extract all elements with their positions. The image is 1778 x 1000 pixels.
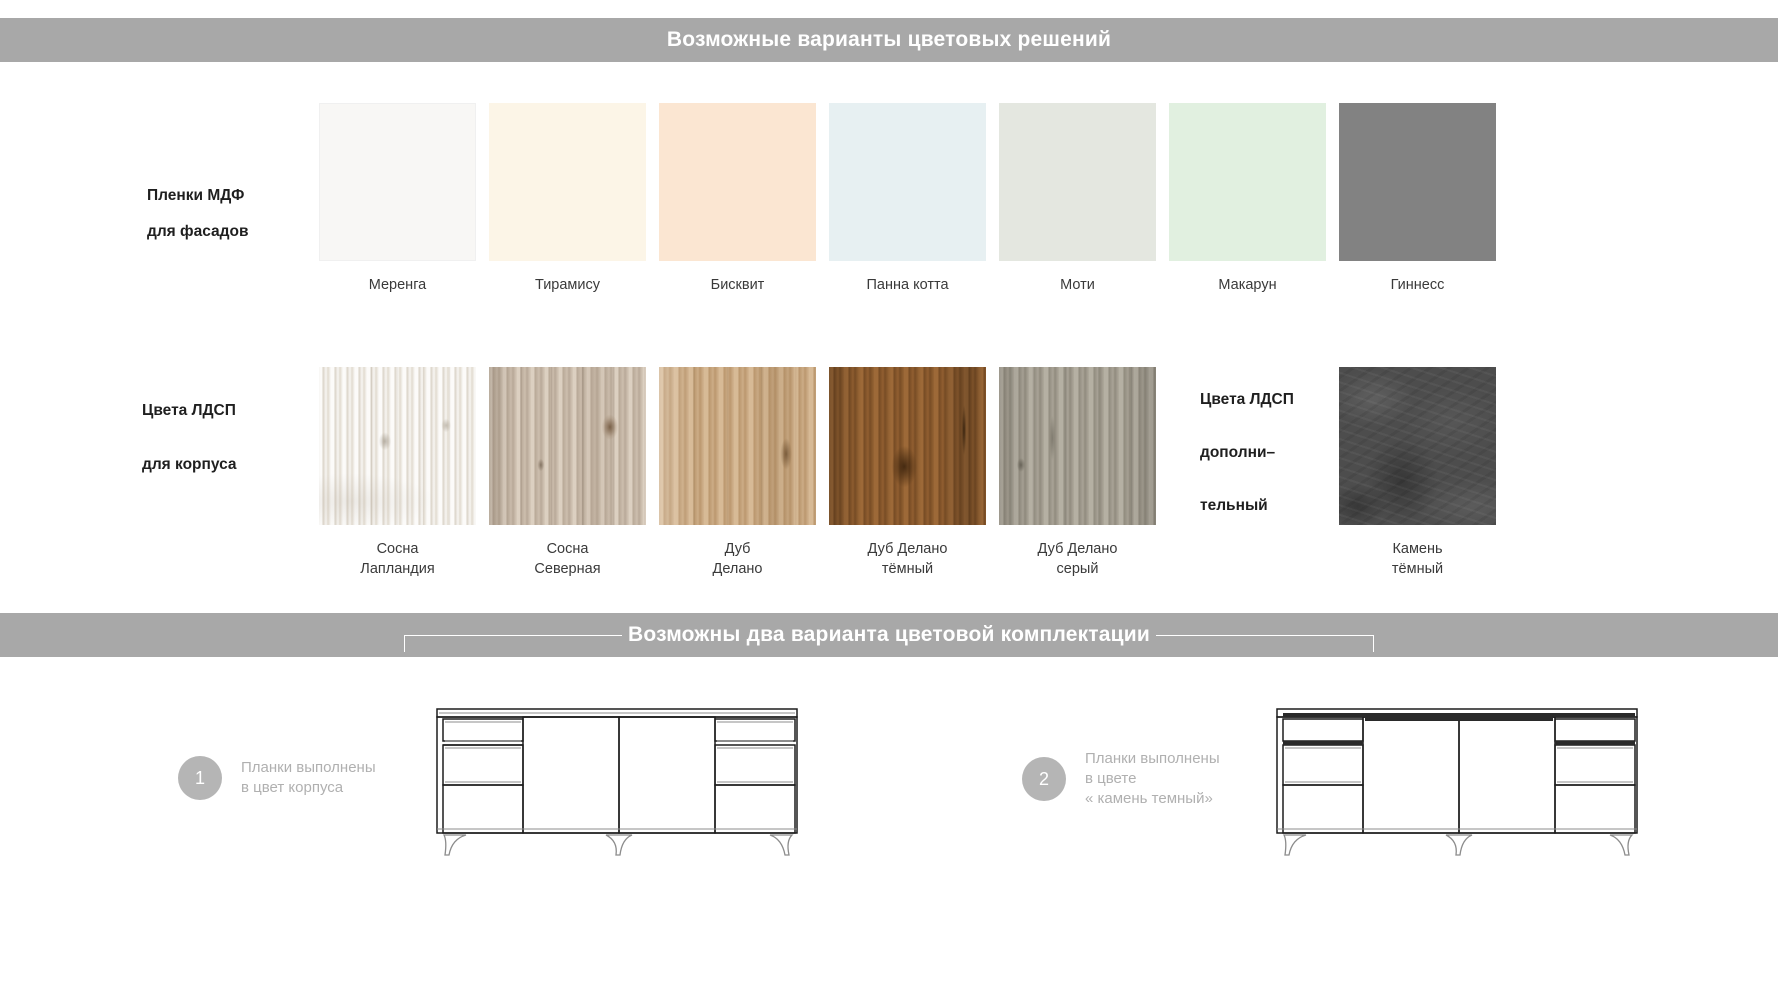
swatch-caption: Гиннесс [1339,275,1496,295]
swatch-chip[interactable] [489,103,646,261]
swatch-chip[interactable] [829,103,986,261]
ldsp-label-line-2: для корпуса [142,447,237,483]
swatch-panna-kotta[interactable]: Панна котта [829,103,986,295]
swatch-caption-line-2: тёмный [1339,559,1496,579]
mdf-label-line-2: для фасадов [147,214,248,250]
swatch-caption: Бисквит [659,275,816,295]
mdf-section-label: Пленки МДФ для фасадов [147,178,248,250]
swatch-moti[interactable]: Моти [999,103,1156,295]
swatch-chip[interactable] [659,367,816,525]
variant-1[interactable]: 1 Планки выполнены в цвет корпуса [178,756,376,800]
swatch-caption-line-2: тёмный [829,559,986,579]
swatch-chip[interactable] [659,103,816,261]
banner-two-variants: Возможны два варианта цветовой комплекта… [0,613,1778,657]
variant-number-badge: 2 [1022,757,1066,801]
swatch-caption-line-1: Дуб Делано [999,539,1156,559]
swatch-tiramisu[interactable]: Тирамису [489,103,646,295]
swatch-caption-line-1: Камень [1339,539,1496,559]
swatch-caption-line-1: Дуб [659,539,816,559]
banner-top-title: Возможные варианты цветовых решений [653,28,1125,52]
swatch-chip[interactable] [1169,103,1326,261]
swatch-caption: Тирамису [489,275,646,295]
swatch-chip[interactable] [489,367,646,525]
ldsp-extra-line-3: тельный [1200,488,1294,524]
banner-middle-title: Возможны два варианта цветовой комплекта… [614,623,1164,647]
variant-description: Планки выполнены в цвете « камень темный… [1085,749,1220,809]
ldsp-extra-line-1: Цвета ЛДСП [1200,382,1294,418]
swatch-caption-line-2: Северная [489,559,646,579]
swatch-makarun[interactable]: Макарун [1169,103,1326,295]
sideboard-drawing-variant-1 [432,703,804,868]
ldsp-extra-label: Цвета ЛДСП дополни– тельный [1200,382,1294,524]
variant-number-badge: 1 [178,756,222,800]
swatch-caption-line-1: Сосна [319,539,476,559]
swatch-ginness[interactable]: Гиннесс [1339,103,1496,295]
swatch-dub-delano-seryy[interactable]: Дуб Делано серый [999,367,1156,579]
banner-bracket-left [404,635,622,652]
swatch-chip[interactable] [1339,103,1496,261]
swatch-sosna-laplandia[interactable]: Сосна Лапландия [319,367,476,579]
swatch-caption-line-2: Делано [659,559,816,579]
mdf-label-line-1: Пленки МДФ [147,178,248,214]
swatch-caption: Меренга [319,275,476,295]
banner-color-options: Возможные варианты цветовых решений [0,18,1778,62]
swatch-caption: Панна котта [829,275,986,295]
sideboard-drawing-variant-2 [1272,703,1644,868]
swatch-caption-line-2: Лапландия [319,559,476,579]
swatch-caption-line-1: Дуб Делано [829,539,986,559]
swatch-chip[interactable] [319,103,476,261]
ldsp-section-label: Цвета ЛДСП для корпуса [142,393,237,483]
swatch-caption: Макарун [1169,275,1326,295]
swatch-chip[interactable] [1339,367,1496,525]
swatch-dub-delano-temnyy[interactable]: Дуб Делано тёмный [829,367,986,579]
swatch-dub-delano[interactable]: Дуб Делано [659,367,816,579]
swatch-merenga[interactable]: Меренга [319,103,476,295]
swatch-caption-line-1: Сосна [489,539,646,559]
ldsp-label-line-1: Цвета ЛДСП [142,393,237,429]
ldsp-extra-line-2: дополни– [1200,435,1294,471]
banner-bracket-right [1156,635,1374,652]
swatch-chip[interactable] [829,367,986,525]
variant-2[interactable]: 2 Планки выполнены в цвете « камень темн… [1022,749,1220,809]
swatch-sosna-severnaya[interactable]: Сосна Северная [489,367,646,579]
swatch-chip[interactable] [999,103,1156,261]
swatch-kamen-temnyy[interactable]: Камень тёмный [1339,367,1496,579]
swatch-chip[interactable] [999,367,1156,525]
swatch-chip[interactable] [319,367,476,525]
variant-description: Планки выполнены в цвет корпуса [241,758,376,798]
swatch-caption: Моти [999,275,1156,295]
swatch-caption-line-2: серый [999,559,1156,579]
swatch-biskvit[interactable]: Бисквит [659,103,816,295]
